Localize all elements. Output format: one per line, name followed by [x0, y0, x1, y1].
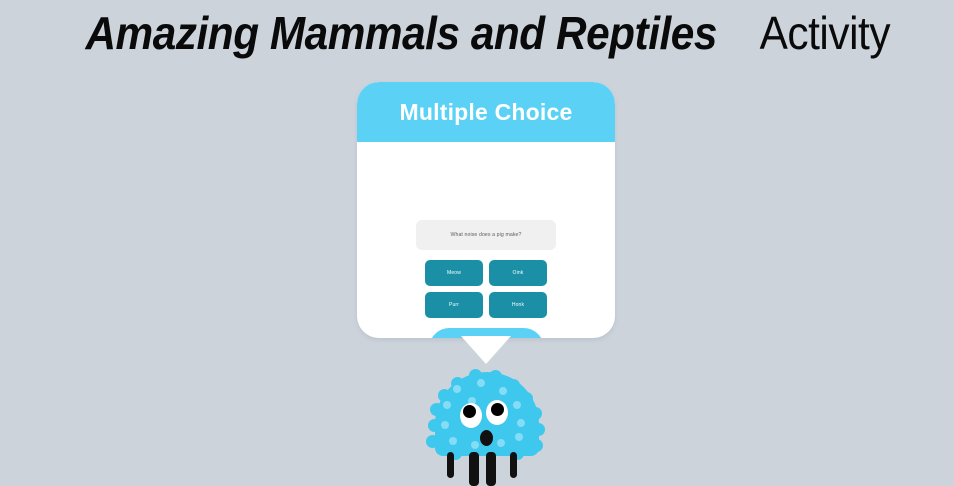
- card-header: Multiple Choice: [357, 82, 615, 142]
- mascot-dot: [513, 401, 521, 409]
- mascot-leg: [486, 452, 496, 486]
- page-title: Amazing Mammals and Reptiles Activity: [0, 0, 954, 66]
- mascot-dot: [517, 419, 525, 427]
- mascot-leg: [510, 452, 517, 478]
- card-body: What noise does a pig make? Meow Oink Pu…: [357, 142, 615, 338]
- mascot-pupil-right: [491, 403, 504, 416]
- speech-bubble-tail-icon: [461, 336, 511, 364]
- mascot-dot: [441, 421, 449, 429]
- mascot-dot: [453, 385, 461, 393]
- mascot-dot: [449, 437, 457, 445]
- question-box: What noise does a pig make?: [416, 220, 556, 250]
- mascot-leg: [469, 452, 479, 486]
- mascot-dot: [497, 439, 505, 447]
- mascot-character: [425, 367, 549, 486]
- mascot-dot: [471, 441, 479, 449]
- question-text: What noise does a pig make?: [450, 232, 521, 238]
- page-title-italic: Amazing Mammals and Reptiles: [85, 6, 716, 60]
- page-title-plain: Activity: [760, 6, 890, 60]
- mascot-dot: [515, 433, 523, 441]
- mascot-dot: [443, 401, 451, 409]
- mascot-dot: [499, 387, 507, 395]
- mascot-leg: [447, 452, 454, 478]
- card-header-label: Multiple Choice: [400, 99, 573, 126]
- answers-grid: Meow Oink Purr Honk: [425, 260, 547, 318]
- mascot-dot: [477, 379, 485, 387]
- answer-option-2[interactable]: Oink: [489, 260, 547, 286]
- answer-option-4[interactable]: Honk: [489, 292, 547, 318]
- answer-option-3[interactable]: Purr: [425, 292, 483, 318]
- mascot-pupil-left: [463, 405, 476, 418]
- answer-option-1[interactable]: Meow: [425, 260, 483, 286]
- mascot-mouth: [480, 430, 493, 446]
- quiz-card: Multiple Choice What noise does a pig ma…: [357, 82, 615, 338]
